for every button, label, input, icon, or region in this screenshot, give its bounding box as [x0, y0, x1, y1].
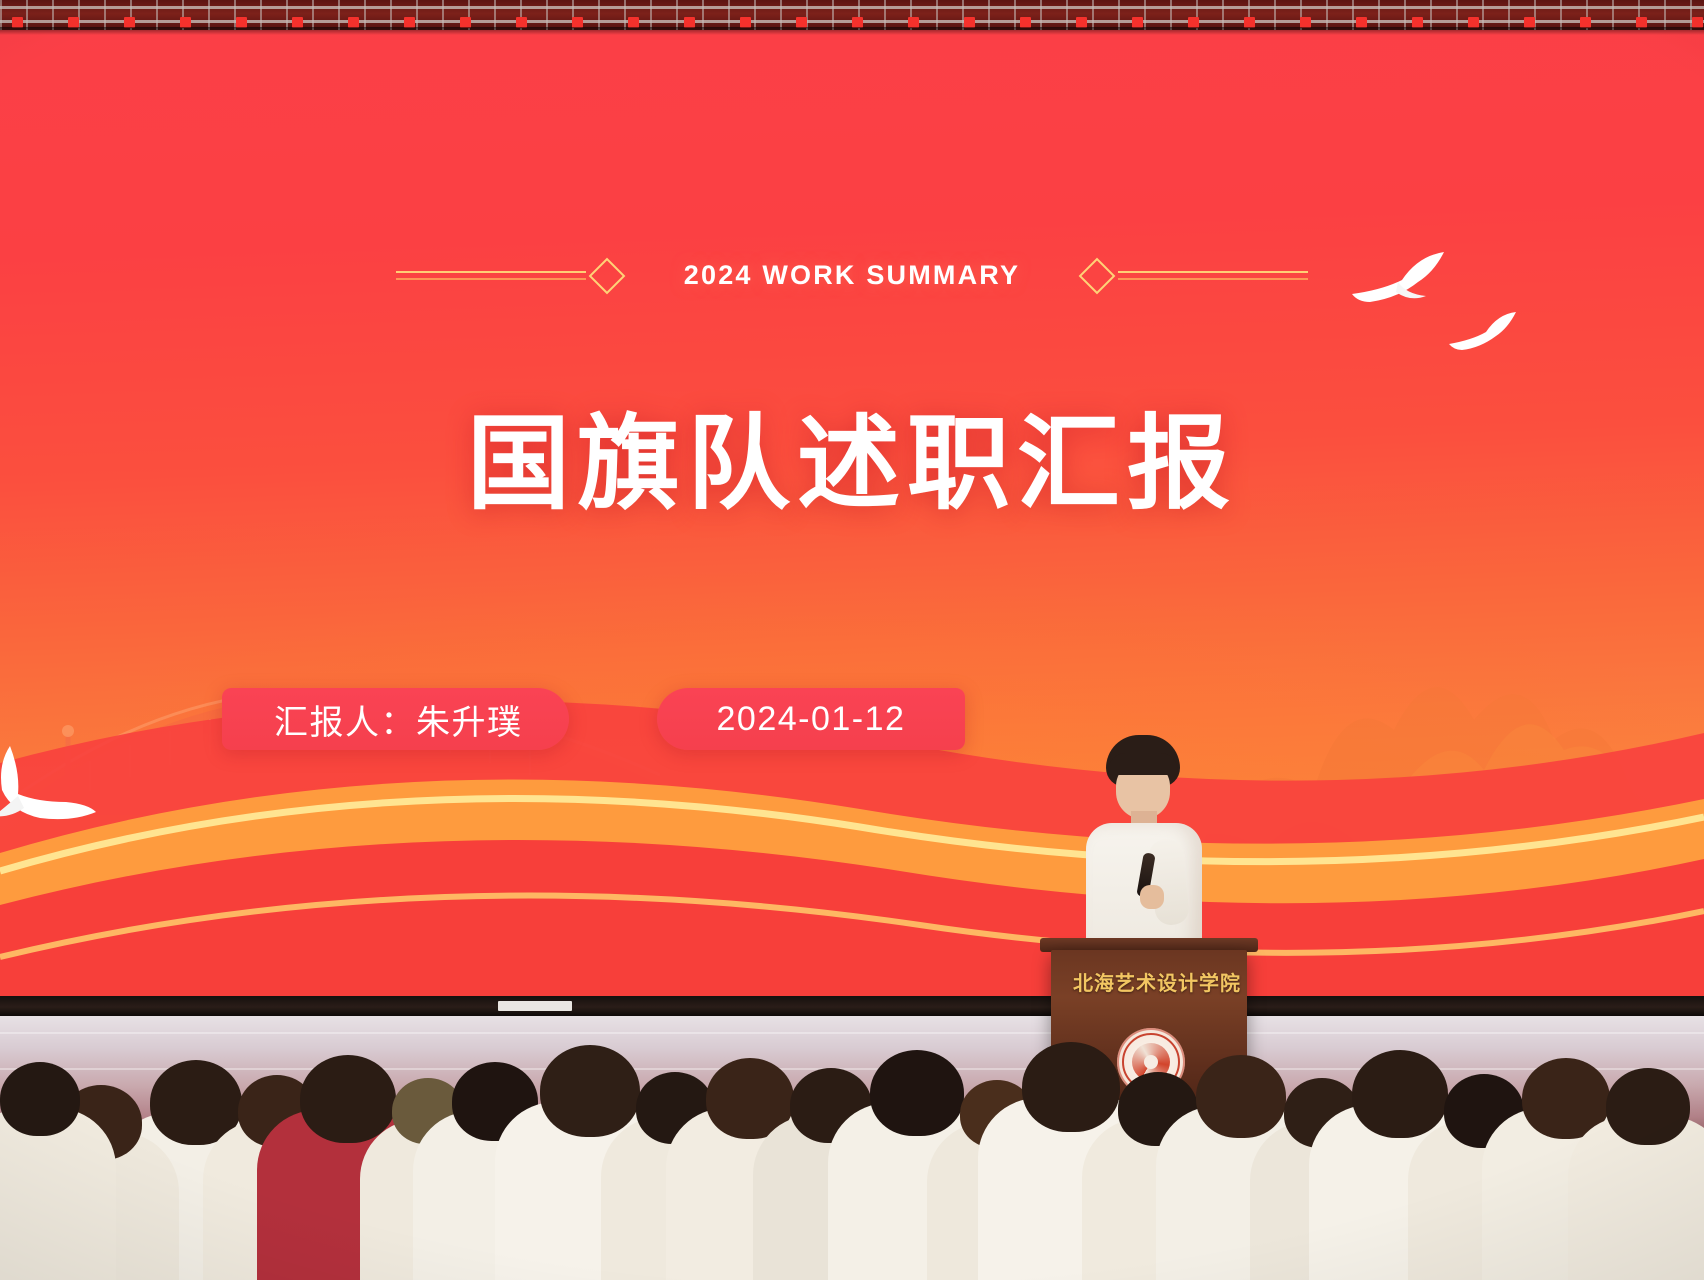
truss-brace [988, 0, 990, 30]
audience-head [300, 1055, 396, 1143]
truss-brace [1404, 0, 1406, 30]
truss-brace [1066, 0, 1068, 30]
truss-brace [1352, 0, 1354, 30]
ornament-left-icon [396, 263, 628, 289]
diamond-icon-right [1079, 257, 1116, 294]
truss-brace [1664, 0, 1666, 30]
truss-brace [676, 0, 678, 30]
truss-brace [442, 0, 444, 30]
truss-brace [338, 0, 340, 30]
ceiling-truss [0, 0, 1704, 30]
truss-brace [1560, 0, 1562, 30]
truss-brace [208, 0, 210, 30]
slide-title: 国旗队述职汇报 [0, 380, 1704, 529]
speaker-person [1078, 735, 1208, 950]
truss-brace [780, 0, 782, 30]
truss-brace [1326, 0, 1328, 30]
led-screen: 2024 WORK SUMMARY 国旗队述职汇报 汇报人：朱升璞 2024-0… [0, 28, 1704, 1000]
truss-brace [1482, 0, 1484, 30]
truss-brace [260, 0, 262, 30]
slide-kicker: 2024 WORK SUMMARY [684, 260, 1020, 291]
speaker-hand [1140, 885, 1164, 909]
golden-wave-ribbons [0, 553, 1704, 1000]
audience-head [1352, 1050, 1448, 1138]
audience-shoulders [0, 1108, 116, 1280]
slide-meta-pills: 汇报人：朱升璞 2024-01-12 [222, 688, 965, 750]
truss-brace [26, 0, 28, 30]
truss-brace [364, 0, 366, 30]
truss-brace [832, 0, 834, 30]
truss-brace [1170, 0, 1172, 30]
truss-brace [286, 0, 288, 30]
presenter-pill: 汇报人：朱升璞 [222, 688, 569, 750]
truss-brace [52, 0, 54, 30]
audience [0, 1010, 1704, 1280]
podium-plaque: 北海艺术设计学院 [1067, 964, 1247, 998]
audience-head [1022, 1042, 1120, 1132]
truss-brace [1118, 0, 1120, 30]
dove-icon-2 [1446, 310, 1522, 361]
truss-brace [416, 0, 418, 30]
truss-brace [1456, 0, 1458, 30]
truss-brace [546, 0, 548, 30]
truss-brace [390, 0, 392, 30]
truss-shadow [0, 27, 1704, 35]
truss-brace [0, 0, 2, 30]
truss-brace [702, 0, 704, 30]
truss-brace [624, 0, 626, 30]
truss-brace [754, 0, 756, 30]
date-pill: 2024-01-12 [657, 688, 966, 750]
dove-icon-3 [0, 746, 98, 837]
truss-brace [1612, 0, 1614, 30]
truss-brace [1378, 0, 1380, 30]
truss-brace [1092, 0, 1094, 30]
audience-head [870, 1050, 964, 1136]
audience-head [0, 1062, 80, 1136]
truss-brace [1014, 0, 1016, 30]
truss-brace [1430, 0, 1432, 30]
truss-brace [1222, 0, 1224, 30]
truss-brace [728, 0, 730, 30]
truss-brace [1144, 0, 1146, 30]
speaker-fringe [1108, 753, 1178, 775]
slide-kicker-row: 2024 WORK SUMMARY [0, 260, 1704, 291]
truss-brace [156, 0, 158, 30]
truss-brace [1040, 0, 1042, 30]
audience-head [1196, 1055, 1286, 1138]
truss-brace [650, 0, 652, 30]
ornament-right-icon [1076, 263, 1308, 289]
truss-brace [936, 0, 938, 30]
truss-rail-top [0, 6, 1704, 9]
truss-brace [104, 0, 106, 30]
podium-inscription: 北海艺术设计学院 [1073, 967, 1241, 996]
truss-brace [312, 0, 314, 30]
truss-brace [1274, 0, 1276, 30]
audience-head [540, 1045, 640, 1137]
photo-scene: 2024 WORK SUMMARY 国旗队述职汇报 汇报人：朱升璞 2024-0… [0, 0, 1704, 1280]
truss-brace [1508, 0, 1510, 30]
audience-head [1606, 1068, 1690, 1145]
truss-brace [598, 0, 600, 30]
truss-brace [494, 0, 496, 30]
diamond-icon-left [588, 257, 625, 294]
truss-brace [884, 0, 886, 30]
